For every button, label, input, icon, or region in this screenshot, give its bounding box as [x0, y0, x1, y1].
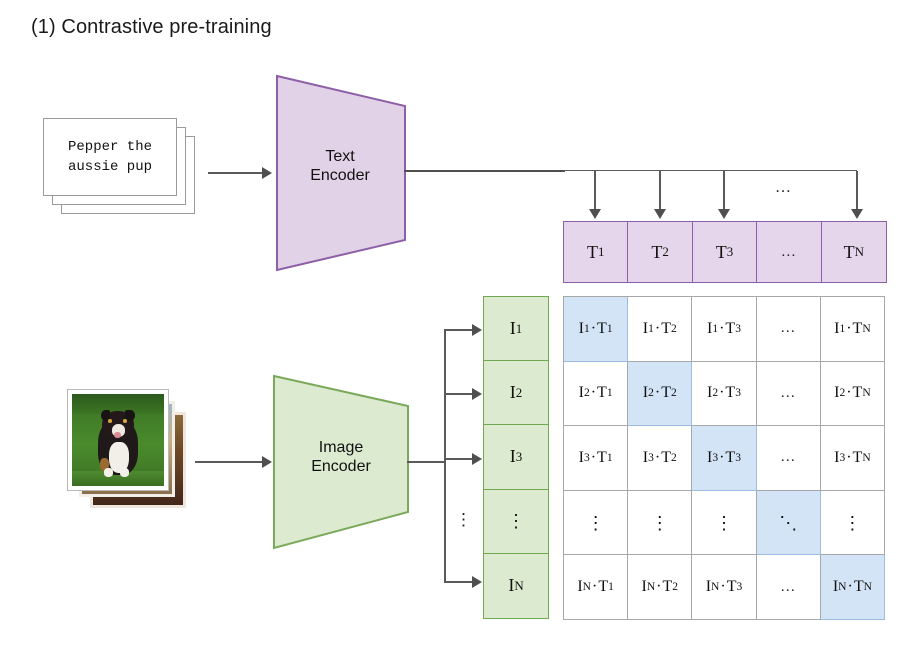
image-encoder-output-line	[407, 461, 445, 463]
text-embedding-cell-3: T3	[693, 222, 757, 282]
image-embedding-cell-1: I1	[484, 297, 548, 361]
text-embedding-row: T1T2T3…TN	[563, 221, 887, 283]
image-embedding-cell-2: I2	[484, 361, 548, 425]
matrix-cell-ellipsis-v-c1: ⋮	[564, 491, 628, 556]
text-embedding-cell-ellipsis: …	[757, 222, 821, 282]
matrix-cell-i1-tN: I1·TN	[821, 297, 885, 362]
image-fanout-arrow-n	[472, 576, 482, 588]
text-card-line-1: Pepper the	[68, 139, 152, 155]
image-embedding-cell-3: I3	[484, 425, 548, 489]
image-embedding-column: I1I2I3⋮IN	[483, 296, 549, 619]
text-drop-arrow-n	[851, 209, 863, 219]
text-drop-line-3	[723, 171, 725, 213]
matrix-cell-ellipsis-h-r3: …	[757, 426, 821, 491]
matrix-cell-ellipsis-v-c3: ⋮	[692, 491, 756, 556]
matrix-cell-iN-t1: IN·T1	[564, 555, 628, 620]
matrix-cell-iN-tN: IN·TN	[821, 555, 885, 620]
matrix-cell-ellipsis-diagonal: ⋱	[757, 491, 821, 556]
image-embedding-cell-ellipsis: ⋮	[484, 490, 548, 554]
matrix-cell-i3-t2: I3·T2	[628, 426, 692, 491]
image-fanout-arrow-2	[472, 388, 482, 400]
matrix-cell-ellipsis-v-c5: ⋮	[821, 491, 885, 556]
text-to-encoder-line	[208, 172, 264, 174]
text-encoder-label: TextEncoder	[280, 147, 400, 185]
matrix-cell-iN-t3: IN·T3	[692, 555, 756, 620]
photo-stack	[68, 390, 190, 512]
matrix-cell-i1-t1: I1·T1	[564, 297, 628, 362]
text-bus-ellipsis: …	[775, 179, 792, 197]
text-drop-arrow-3	[718, 209, 730, 219]
matrix-cell-ellipsis-h-r5: …	[757, 555, 821, 620]
text-card-label: Pepper the aussie pup	[68, 137, 152, 177]
image-fanout-arrow-3	[472, 453, 482, 465]
image-bus-ellipsis: ⋮	[455, 511, 472, 528]
image-fanout-arrow-1	[472, 324, 482, 336]
text-embedding-bus	[563, 170, 857, 171]
text-card-front: Pepper the aussie pup	[43, 118, 177, 196]
text-embedding-cell-2: T2	[628, 222, 692, 282]
image-to-encoder-line	[195, 461, 265, 463]
text-drop-line-n	[856, 171, 858, 213]
matrix-cell-i2-t3: I2·T3	[692, 362, 756, 427]
image-encoder-label: ImageEncoder	[278, 438, 404, 476]
text-card-stack: Pepper the aussie pup	[43, 118, 195, 218]
text-encoder-output-line	[404, 170, 565, 172]
text-card-line-2: aussie pup	[68, 159, 152, 175]
page-title: (1) Contrastive pre-training	[31, 15, 272, 39]
matrix-cell-i2-t1: I2·T1	[564, 362, 628, 427]
text-embedding-cell-1: T1	[564, 222, 628, 282]
text-embedding-cell-N: TN	[822, 222, 886, 282]
matrix-cell-i1-t3: I1·T3	[692, 297, 756, 362]
matrix-cell-i3-t3: I3·T3	[692, 426, 756, 491]
text-drop-arrow-1	[589, 209, 601, 219]
diagram-canvas: (1) Contrastive pre-training Pepper the …	[0, 0, 906, 654]
matrix-cell-ellipsis-v-c2: ⋮	[628, 491, 692, 556]
matrix-cell-i2-t2: I2·T2	[628, 362, 692, 427]
photo-front-dog	[68, 390, 168, 490]
text-drop-line-1	[594, 171, 596, 213]
matrix-cell-i3-t1: I3·T1	[564, 426, 628, 491]
matrix-cell-i2-tN: I2·TN	[821, 362, 885, 427]
matrix-cell-iN-t2: IN·T2	[628, 555, 692, 620]
matrix-cell-i3-tN: I3·TN	[821, 426, 885, 491]
text-drop-arrow-2	[654, 209, 666, 219]
matrix-cell-ellipsis-h-r2: …	[757, 362, 821, 427]
similarity-matrix: I1·T1I1·T2I1·T3…I1·TNI2·T1I2·T2I2·T3…I2·…	[563, 296, 885, 620]
text-drop-line-2	[659, 171, 661, 213]
image-embedding-bus	[444, 329, 446, 581]
image-embedding-cell-N: IN	[484, 554, 548, 618]
matrix-cell-i1-t2: I1·T2	[628, 297, 692, 362]
matrix-cell-ellipsis-h-r1: …	[757, 297, 821, 362]
